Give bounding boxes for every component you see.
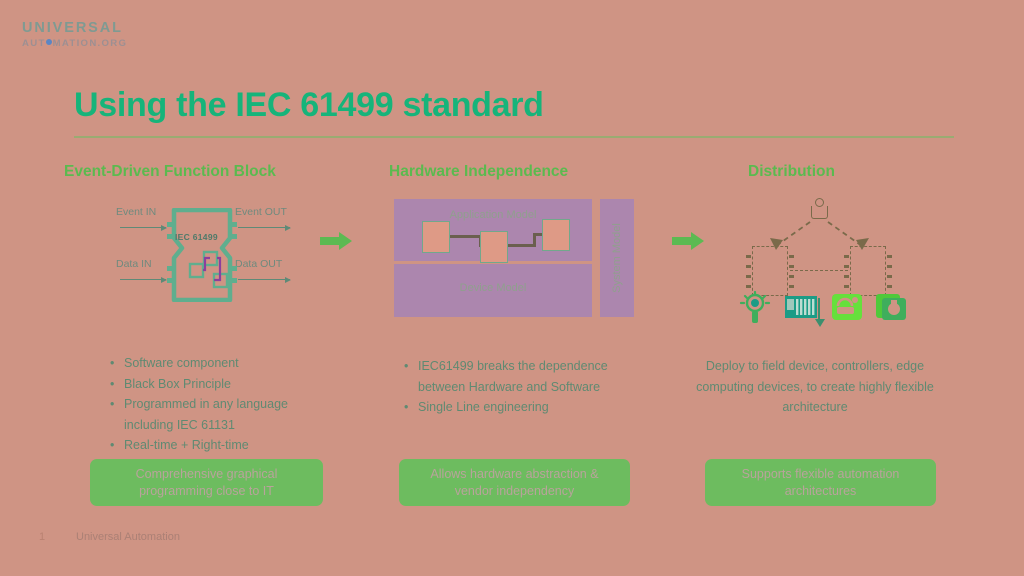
left-column-bullets: •Software component •Black Box Principle… (110, 353, 350, 456)
edge-gateway-icon (830, 290, 864, 324)
function-block-label: IEC 61499 (175, 232, 218, 242)
model-stack: Application Model Device Model (394, 199, 592, 317)
plc-controller-icon (784, 290, 818, 324)
list-item: •Black Box Principle (110, 374, 350, 395)
list-item: •Programmed in any language (110, 394, 350, 415)
label-data-out: Data OUT (235, 258, 282, 270)
right-column-body-text: Deploy to field device, controllers, edg… (694, 356, 936, 418)
sensor-device-icon (738, 290, 772, 324)
connector-arrow-one-icon (320, 232, 354, 250)
label-data-in: Data IN (116, 258, 152, 270)
list-item: •Real-time + Right-time (110, 435, 350, 456)
bullet-dot-icon: • (404, 356, 418, 377)
bullet-text: Black Box Principle (124, 374, 231, 395)
block-pin-icon (230, 234, 237, 239)
block-pin-icon (230, 266, 237, 271)
system-model-panel: System Model (600, 199, 634, 317)
logo-line-automation-org: AUTMATION.ORG (22, 38, 127, 50)
bullet-dot-icon: • (404, 397, 418, 418)
column-heading-hardware-independence: Hardware Independence (389, 163, 568, 181)
target-device-icons (734, 290, 910, 330)
bullet-dot-icon: • (110, 374, 124, 395)
callout-left: Comprehensive graphical programming clos… (90, 459, 323, 506)
slide-canvas: UNIVERSAL AUTMATION.ORG Using the IEC 61… (0, 0, 1024, 576)
block-pin-icon (230, 222, 237, 227)
column-heading-event-driven: Event-Driven Function Block (64, 163, 276, 181)
distributed-block-right-icon (850, 246, 886, 296)
bullet-subtext: between Hardware and Software (418, 377, 654, 398)
middle-column-bullets: •IEC61499 breaks the dependence between … (404, 356, 654, 418)
footer-page-number: 1 (39, 531, 45, 543)
distributed-block-left-icon (752, 246, 788, 296)
distribution-diagram (730, 198, 910, 330)
block-link-dashed-icon (790, 270, 848, 271)
title-divider (74, 136, 954, 138)
arrow-data-out-icon (238, 279, 290, 280)
hardware-independence-diagram: Application Model Device Model System Mo… (394, 199, 638, 317)
device-model-panel: Device Model (394, 264, 592, 317)
function-block-shape: IEC 61499 (168, 208, 236, 302)
block-pin-icon (167, 278, 174, 283)
label-event-in: Event IN (116, 206, 156, 218)
application-block-icon (422, 221, 450, 253)
logo-blue-dot-icon (46, 39, 52, 45)
application-model-panel: Application Model (394, 199, 592, 261)
bullet-text: Real-time + Right-time (124, 435, 249, 456)
application-block-icon (480, 231, 508, 263)
bullet-dot-icon: • (110, 435, 124, 456)
bullet-text: Single Line engineering (418, 397, 549, 418)
logo-text-after-dot: MATION.ORG (53, 38, 128, 49)
function-block-diagram: Event IN Event OUT Data IN Data OUT IEC … (110, 200, 320, 310)
callout-middle: Allows hardware abstraction & vendor ind… (399, 459, 630, 506)
bullet-text: IEC61499 breaks the dependence (418, 356, 608, 377)
arrow-data-in-icon (120, 279, 166, 280)
footer-label: Universal Automation (76, 531, 180, 543)
application-block-icon (542, 219, 570, 251)
bullet-text: Software component (124, 353, 239, 374)
arrow-event-in-icon (120, 227, 166, 228)
logo-line-universal: UNIVERSAL (22, 20, 127, 37)
arrow-event-out-icon (238, 227, 290, 228)
system-model-label: System Model (611, 223, 623, 293)
brand-logo: UNIVERSAL AUTMATION.ORG (22, 20, 127, 49)
block-pin-icon (167, 222, 174, 227)
model-link-icon (506, 244, 536, 247)
list-item: •Single Line engineering (404, 397, 654, 418)
block-pin-icon (167, 266, 174, 271)
block-pin-icon (167, 234, 174, 239)
page-title: Using the IEC 61499 standard (74, 86, 544, 125)
function-block-outline-icon (168, 208, 236, 302)
column-heading-distribution: Distribution (748, 163, 835, 181)
list-item: •Software component (110, 353, 350, 374)
bullet-text: Programmed in any language (124, 394, 288, 415)
block-pin-icon (230, 278, 237, 283)
bullet-dot-icon: • (110, 394, 124, 415)
server-stack-icon (874, 290, 908, 324)
model-link-icon (448, 235, 482, 238)
logo-text-before-dot: AUT (22, 38, 46, 49)
bullet-dot-icon: • (110, 353, 124, 374)
bullet-subtext: including IEC 61131 (124, 415, 350, 436)
connector-arrow-two-icon (672, 232, 706, 250)
list-item: •IEC61499 breaks the dependence (404, 356, 654, 377)
label-event-out: Event OUT (235, 206, 287, 218)
callout-right: Supports flexible automation architectur… (705, 459, 936, 506)
device-model-label: Device Model (394, 282, 592, 294)
